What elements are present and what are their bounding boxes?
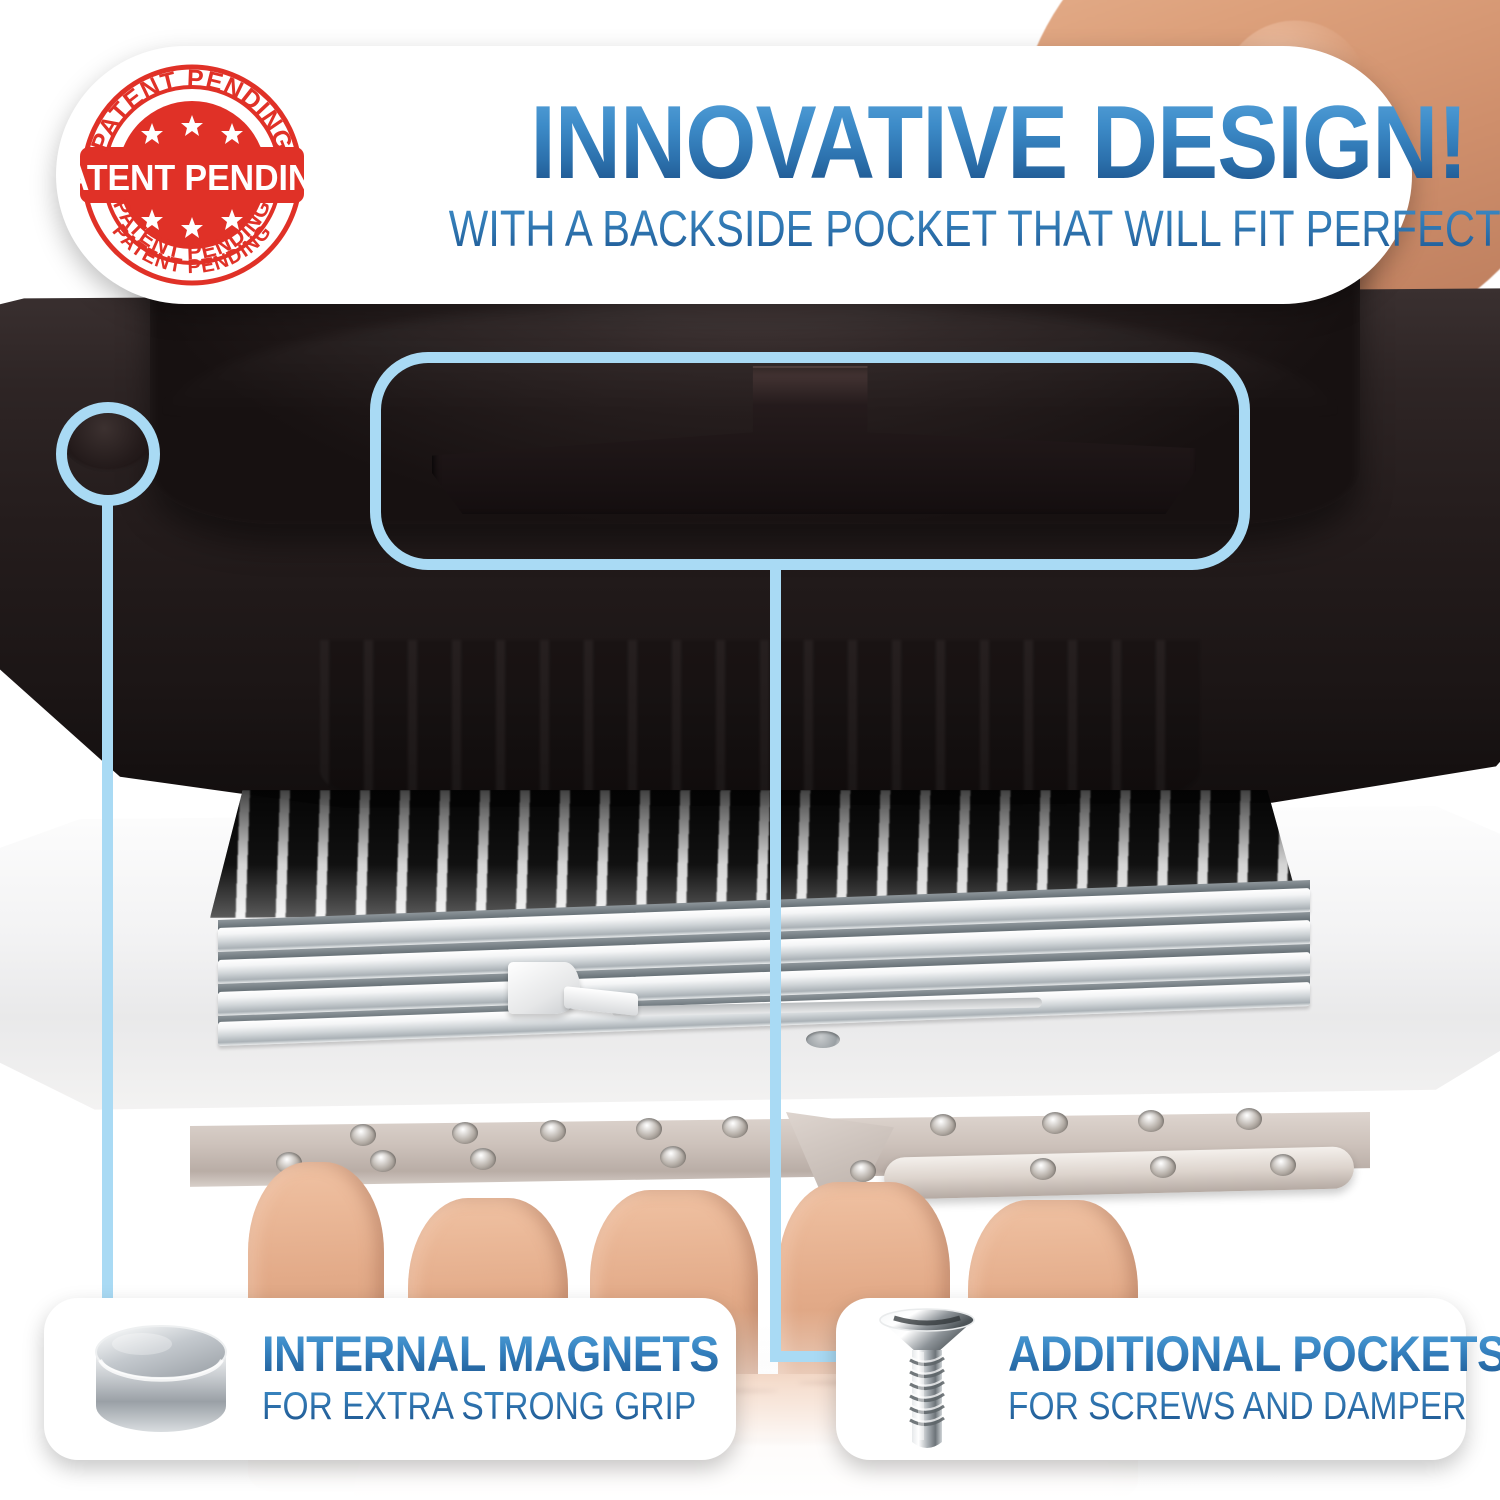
damper-lever: [508, 962, 638, 1032]
magnets-text-block: INTERNAL MAGNETS FOR EXTRA STRONG GRIP: [236, 1329, 792, 1429]
svg-text:PATENT PENDING: PATENT PENDING: [78, 158, 306, 198]
pockets-text-block: ADDITIONAL POCKETS FOR SCREWS AND DAMPER: [982, 1329, 1500, 1429]
card-title-pockets: ADDITIONAL POCKETS: [1008, 1329, 1500, 1379]
magnet-callout-connector-line: [102, 500, 113, 1312]
card-subtitle-pockets: FOR SCREWS AND DAMPER: [1008, 1385, 1484, 1429]
pocket-callout-connector-vertical: [770, 560, 781, 1362]
card-title-magnets: INTERNAL MAGNETS: [262, 1329, 719, 1379]
headline-banner: PATENT PENDING PATENT PENDING PATENT PEN…: [56, 46, 1412, 304]
register-screw-hole: [806, 1031, 840, 1048]
page-title: INNOVATIVE DESIGN!: [408, 94, 1500, 194]
cover-rib-texture: [320, 640, 1200, 810]
product-marketing-image: PATENT PENDING PATENT PENDING PATENT PEN…: [0, 0, 1500, 1500]
card-subtitle-magnets: FOR EXTRA STRONG GRIP: [262, 1385, 699, 1429]
feature-card-additional-pockets: ADDITIONAL POCKETS FOR SCREWS AND DAMPER: [836, 1298, 1466, 1460]
magnet-icon: [86, 1314, 236, 1444]
feature-card-internal-magnets: INTERNAL MAGNETS FOR EXTRA STRONG GRIP: [44, 1298, 736, 1460]
screw-icon: [872, 1304, 982, 1454]
magnet-recess-circle-annotation: [56, 402, 160, 506]
patent-pending-stamp-icon: PATENT PENDING PATENT PENDING PATENT PEN…: [78, 61, 306, 289]
banner-text-block: INNOVATIVE DESIGN! WITH A BACKSIDE POCKE…: [306, 94, 1500, 257]
page-subtitle: WITH A BACKSIDE POCKET THAT WILL FIT PER…: [449, 201, 1500, 256]
backside-pocket-rect-annotation: [370, 352, 1250, 570]
